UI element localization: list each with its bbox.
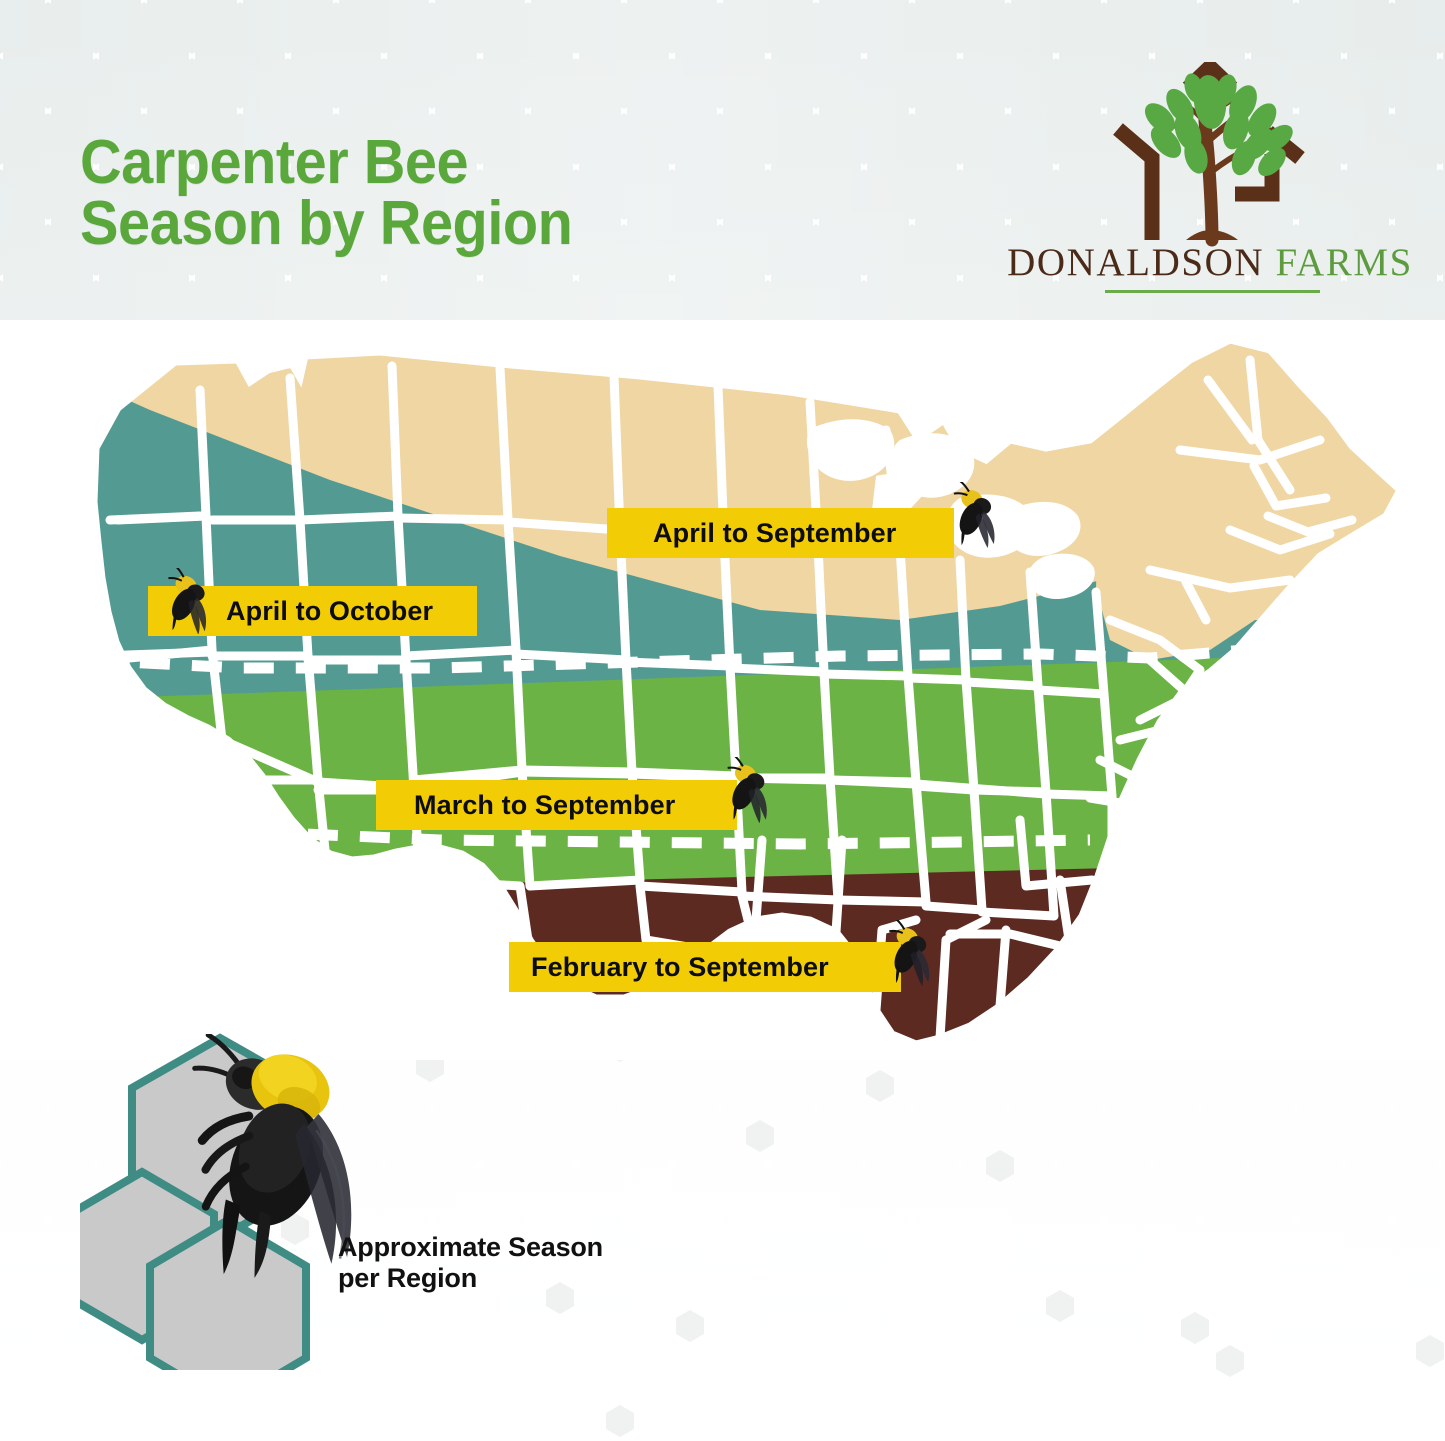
season-label-text: March to September: [414, 790, 675, 821]
season-label-march-september[interactable]: March to September: [376, 780, 737, 830]
brand-name: DONALDSON FARMS: [1000, 240, 1420, 285]
brand-underline: [1105, 290, 1320, 293]
brand-name-secondary: FARMS: [1276, 241, 1413, 284]
season-label-april-october[interactable]: April to October: [148, 586, 477, 636]
legend-caption-line-1: Approximate Season: [338, 1232, 603, 1263]
brand-name-primary: DONALDSON: [1007, 241, 1264, 284]
page-title-line-1: Carpenter Bee: [80, 128, 468, 197]
season-label-text: April to September: [653, 518, 896, 549]
page-title: Carpenter Bee Season by Region: [80, 132, 572, 255]
legend-caption: Approximate Season per Region: [338, 1232, 603, 1295]
page-title-line-2: Season by Region: [80, 193, 572, 254]
season-label-text: April to October: [226, 596, 433, 627]
legend-caption-line-2: per Region: [338, 1263, 603, 1294]
house-with-tree-icon: [1000, 62, 1420, 247]
season-label-april-september[interactable]: April to September: [607, 508, 954, 558]
brand-logo[interactable]: DONALDSON FARMS: [1000, 62, 1420, 302]
season-label-february-september[interactable]: February to September: [509, 942, 901, 992]
season-label-text: February to September: [531, 952, 829, 983]
infographic-canvas: Carpenter Bee Season by Region: [0, 0, 1445, 1441]
legend: Approximate Season per Region: [80, 1020, 700, 1390]
